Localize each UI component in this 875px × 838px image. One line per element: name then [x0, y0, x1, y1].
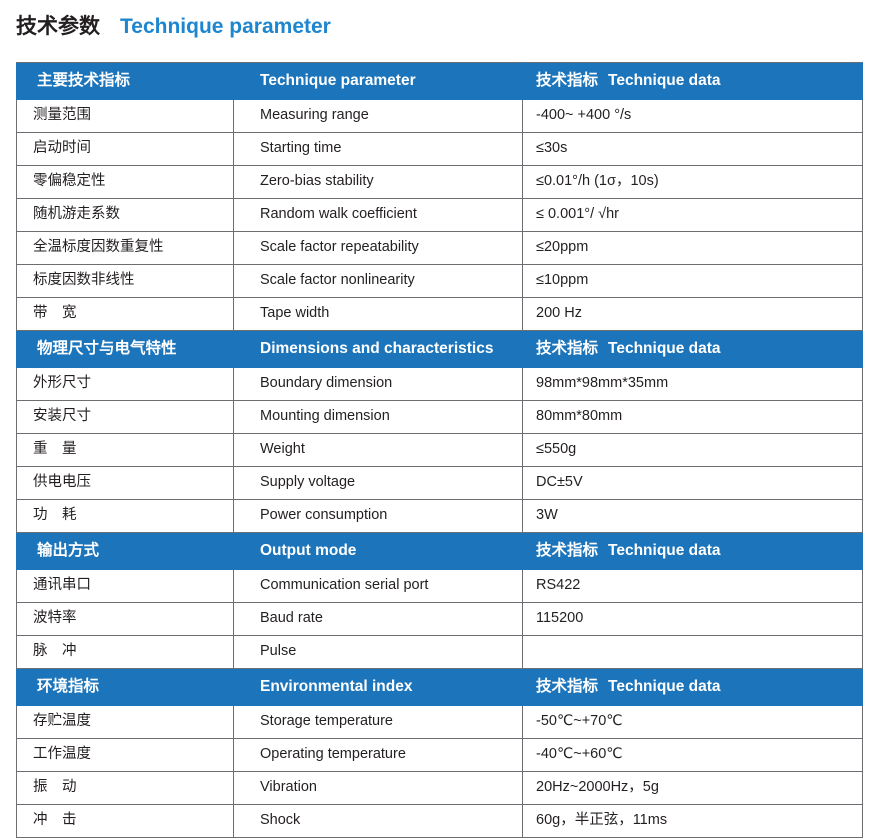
row-value: ≤20ppm — [523, 232, 863, 265]
section-header-cn: 输出方式 — [17, 533, 234, 570]
section-header-data: 技术指标Technique data — [523, 669, 863, 706]
row-label-cn: 标度因数非线性 — [17, 265, 234, 298]
row-value — [523, 636, 863, 669]
page-title: 技术参数 Technique parameter — [16, 10, 331, 40]
row-label-cn: 测量范围 — [17, 100, 234, 133]
section-header-data: 技术指标Technique data — [523, 63, 863, 100]
row-label-en: Storage temperature — [234, 706, 523, 739]
table-row: 冲 击Shock60g，半正弦，11ms — [17, 805, 863, 838]
row-label-en: Baud rate — [234, 603, 523, 636]
row-label-en: Random walk coefficient — [234, 199, 523, 232]
row-label-en: Shock — [234, 805, 523, 838]
table-row: 标度因数非线性Scale factor nonlinearity≤10ppm — [17, 265, 863, 298]
row-label-cn: 波特率 — [17, 603, 234, 636]
data-header-cn: 技术指标 — [536, 542, 598, 559]
data-header-cn: 技术指标 — [536, 340, 598, 357]
row-value: 20Hz~2000Hz，5g — [523, 772, 863, 805]
table-row: 通讯串口Communication serial portRS422 — [17, 570, 863, 603]
table-row: 脉 冲Pulse — [17, 636, 863, 669]
row-value: DC±5V — [523, 467, 863, 500]
section-header-en: Dimensions and characteristics — [234, 331, 523, 368]
section-header-row: 主要技术指标Technique parameter技术指标Technique d… — [17, 63, 863, 100]
row-label-cn: 冲 击 — [17, 805, 234, 838]
data-header-cn: 技术指标 — [536, 678, 598, 695]
row-label-en: Mounting dimension — [234, 401, 523, 434]
row-label-en: Scale factor repeatability — [234, 232, 523, 265]
data-header-en: Technique data — [608, 542, 721, 559]
section-header-en: Technique parameter — [234, 63, 523, 100]
table-row: 零偏稳定性Zero-bias stability≤0.01°/h (1σ，10s… — [17, 166, 863, 199]
row-label-cn: 通讯串口 — [17, 570, 234, 603]
row-value: RS422 — [523, 570, 863, 603]
row-label-cn: 全温标度因数重复性 — [17, 232, 234, 265]
row-label-cn: 功 耗 — [17, 500, 234, 533]
row-label-cn: 随机游走系数 — [17, 199, 234, 232]
table-row: 供电电压Supply voltageDC±5V — [17, 467, 863, 500]
section-header-row: 输出方式Output mode技术指标Technique data — [17, 533, 863, 570]
row-value: ≤30s — [523, 133, 863, 166]
row-value: ≤550g — [523, 434, 863, 467]
table-row: 振 动Vibration20Hz~2000Hz，5g — [17, 772, 863, 805]
row-label-cn: 工作温度 — [17, 739, 234, 772]
row-value: ≤10ppm — [523, 265, 863, 298]
row-value: 98mm*98mm*35mm — [523, 368, 863, 401]
row-value: 80mm*80mm — [523, 401, 863, 434]
row-label-en: Measuring range — [234, 100, 523, 133]
row-value: ≤0.01°/h (1σ，10s) — [523, 166, 863, 199]
table-row: 安装尺寸Mounting dimension80mm*80mm — [17, 401, 863, 434]
table-row: 测量范围Measuring range-400~ +400 °/s — [17, 100, 863, 133]
table-row: 随机游走系数Random walk coefficient≤ 0.001°/ √… — [17, 199, 863, 232]
section-header-data: 技术指标Technique data — [523, 533, 863, 570]
row-label-cn: 脉 冲 — [17, 636, 234, 669]
section-header-cn: 物理尺寸与电气特性 — [17, 331, 234, 368]
section-header-en: Environmental index — [234, 669, 523, 706]
row-label-en: Supply voltage — [234, 467, 523, 500]
section-header-cn: 主要技术指标 — [17, 63, 234, 100]
table-row: 外形尺寸Boundary dimension98mm*98mm*35mm — [17, 368, 863, 401]
row-label-cn: 存贮温度 — [17, 706, 234, 739]
row-label-en: Pulse — [234, 636, 523, 669]
row-label-en: Power consumption — [234, 500, 523, 533]
row-label-en: Boundary dimension — [234, 368, 523, 401]
row-label-cn: 零偏稳定性 — [17, 166, 234, 199]
row-label-cn: 振 动 — [17, 772, 234, 805]
row-label-en: Scale factor nonlinearity — [234, 265, 523, 298]
row-label-cn: 安装尺寸 — [17, 401, 234, 434]
table-row: 波特率Baud rate115200 — [17, 603, 863, 636]
row-label-cn: 启动时间 — [17, 133, 234, 166]
data-header-cn: 技术指标 — [536, 72, 598, 89]
row-label-cn: 重 量 — [17, 434, 234, 467]
section-header-data: 技术指标Technique data — [523, 331, 863, 368]
row-value: 60g，半正弦，11ms — [523, 805, 863, 838]
row-value: 3W — [523, 500, 863, 533]
section-header-row: 环境指标Environmental index技术指标Technique dat… — [17, 669, 863, 706]
data-header-en: Technique data — [608, 678, 721, 695]
row-value: -50℃~+70℃ — [523, 706, 863, 739]
page-title-en: Technique parameter — [120, 15, 331, 39]
row-label-en: Tape width — [234, 298, 523, 331]
row-value: -40℃~+60℃ — [523, 739, 863, 772]
row-value: ≤ 0.001°/ √hr — [523, 199, 863, 232]
row-value: 200 Hz — [523, 298, 863, 331]
row-label-cn: 带 宽 — [17, 298, 234, 331]
technique-parameter-table: 主要技术指标Technique parameter技术指标Technique d… — [16, 62, 863, 838]
table-row: 功 耗Power consumption3W — [17, 500, 863, 533]
section-header-en: Output mode — [234, 533, 523, 570]
data-header-en: Technique data — [608, 340, 721, 357]
row-value: 115200 — [523, 603, 863, 636]
row-label-en: Starting time — [234, 133, 523, 166]
row-label-en: Vibration — [234, 772, 523, 805]
row-label-cn: 供电电压 — [17, 467, 234, 500]
table-row: 带 宽Tape width200 Hz — [17, 298, 863, 331]
data-header-en: Technique data — [608, 72, 721, 89]
row-label-en: Weight — [234, 434, 523, 467]
table-row: 工作温度Operating temperature-40℃~+60℃ — [17, 739, 863, 772]
table-row: 存贮温度Storage temperature-50℃~+70℃ — [17, 706, 863, 739]
row-label-en: Communication serial port — [234, 570, 523, 603]
table-row: 全温标度因数重复性Scale factor repeatability≤20pp… — [17, 232, 863, 265]
row-value: -400~ +400 °/s — [523, 100, 863, 133]
section-header-cn: 环境指标 — [17, 669, 234, 706]
table-row: 重 量Weight≤550g — [17, 434, 863, 467]
table-row: 启动时间Starting time≤30s — [17, 133, 863, 166]
row-label-en: Zero-bias stability — [234, 166, 523, 199]
row-label-en: Operating temperature — [234, 739, 523, 772]
page-title-cn: 技术参数 — [16, 10, 100, 40]
row-label-cn: 外形尺寸 — [17, 368, 234, 401]
section-header-row: 物理尺寸与电气特性Dimensions and characteristics技… — [17, 331, 863, 368]
